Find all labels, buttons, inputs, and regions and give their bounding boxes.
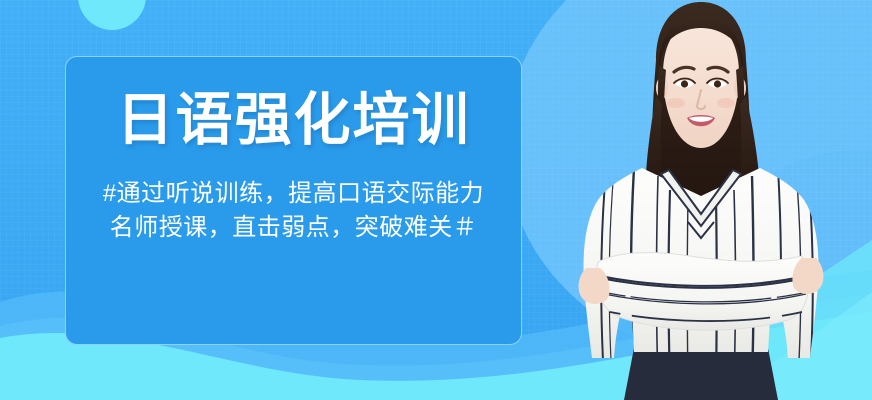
pupil-right: [714, 80, 721, 87]
page-title: 日语强化培训: [66, 91, 521, 151]
model-photo: [530, 0, 872, 400]
subtitle-line-1: #通过听说训练，提高口语交际能力: [66, 177, 521, 211]
hand-left: [579, 268, 610, 304]
text-card: 日语强化培训 #通过听说训练，提高口语交际能力 名师授课，直击弱点，突破难关＃: [65, 56, 522, 345]
pupil-left: [681, 80, 688, 87]
blush-left: [667, 98, 685, 108]
course-promo-banner: 日语强化培训 #通过听说训练，提高口语交际能力 名师授课，直击弱点，突破难关＃: [0, 0, 872, 400]
subtitle-line-2: 名师授课，直击弱点，突破难关＃: [66, 211, 521, 245]
crossed-arms: [596, 253, 808, 331]
blush-right: [717, 98, 735, 108]
skirt: [624, 348, 778, 400]
subtitle-block: #通过听说训练，提高口语交际能力 名师授课，直击弱点，突破难关＃: [66, 177, 521, 245]
card-content: 日语强化培训 #通过听说训练，提高口语交际能力 名师授课，直击弱点，突破难关＃: [66, 91, 521, 245]
hand-right: [792, 258, 823, 294]
